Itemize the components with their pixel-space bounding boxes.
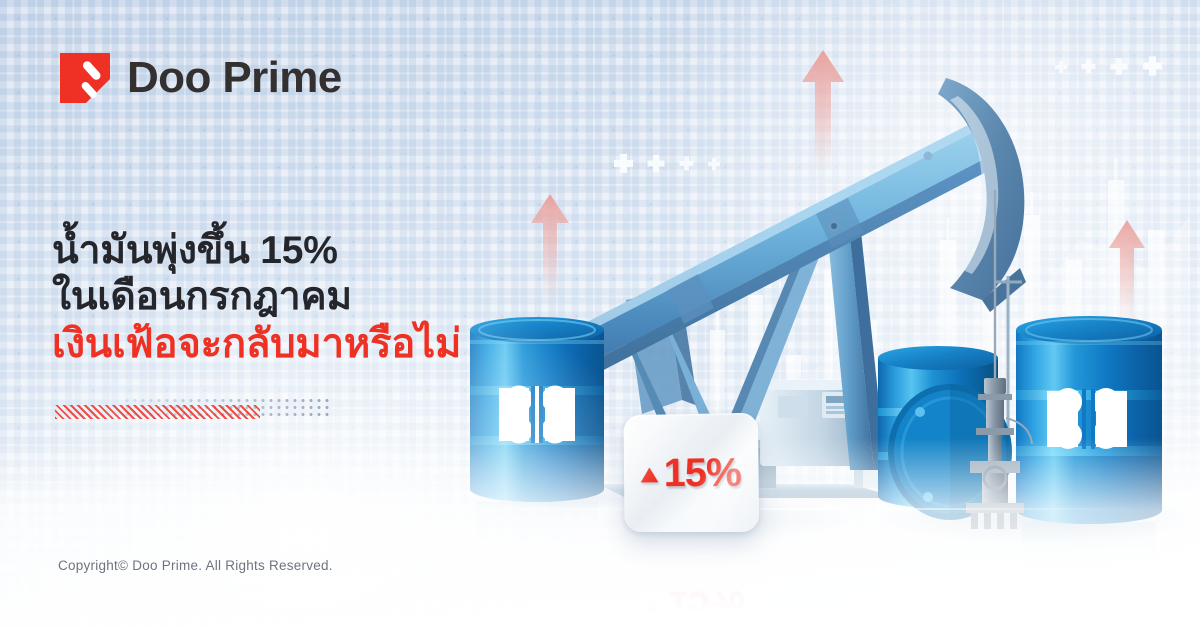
doo-prime-mark-icon [60,53,110,103]
badge-value: 15% [663,452,740,493]
banner-root: 15% 15% Doo Prime น้ำมันพุ่งขึ้น 15% ในเ… [0,0,1200,628]
headline-block: น้ำมันพุ่งขึ้น 15% ในเดือนกรกฎาคม เงินเฟ… [52,228,461,368]
artwork-oil-scene [430,0,1200,628]
triangle-up-icon [641,467,659,482]
barrel-right [1016,316,1162,566]
barrel-left [470,317,604,542]
headline-line-1: น้ำมันพุ่งขึ้น 15% [52,228,461,274]
copyright-text: Copyright© Doo Prime. All Rights Reserve… [58,558,333,573]
divider-hatch-bar [55,405,260,419]
headline-line-3: เงินเฟ้อจะกลับมาหรือไม่ [52,321,461,369]
headline-line-2: ในเดือนกรกฎาคม [52,274,461,320]
pumpjack-horsehead [938,78,1026,312]
percentage-badge-card: 15% [623,413,759,532]
brand-logo-text: Doo Prime [127,56,342,100]
brand-logo[interactable]: Doo Prime [60,53,342,103]
decorative-divider [55,397,330,423]
